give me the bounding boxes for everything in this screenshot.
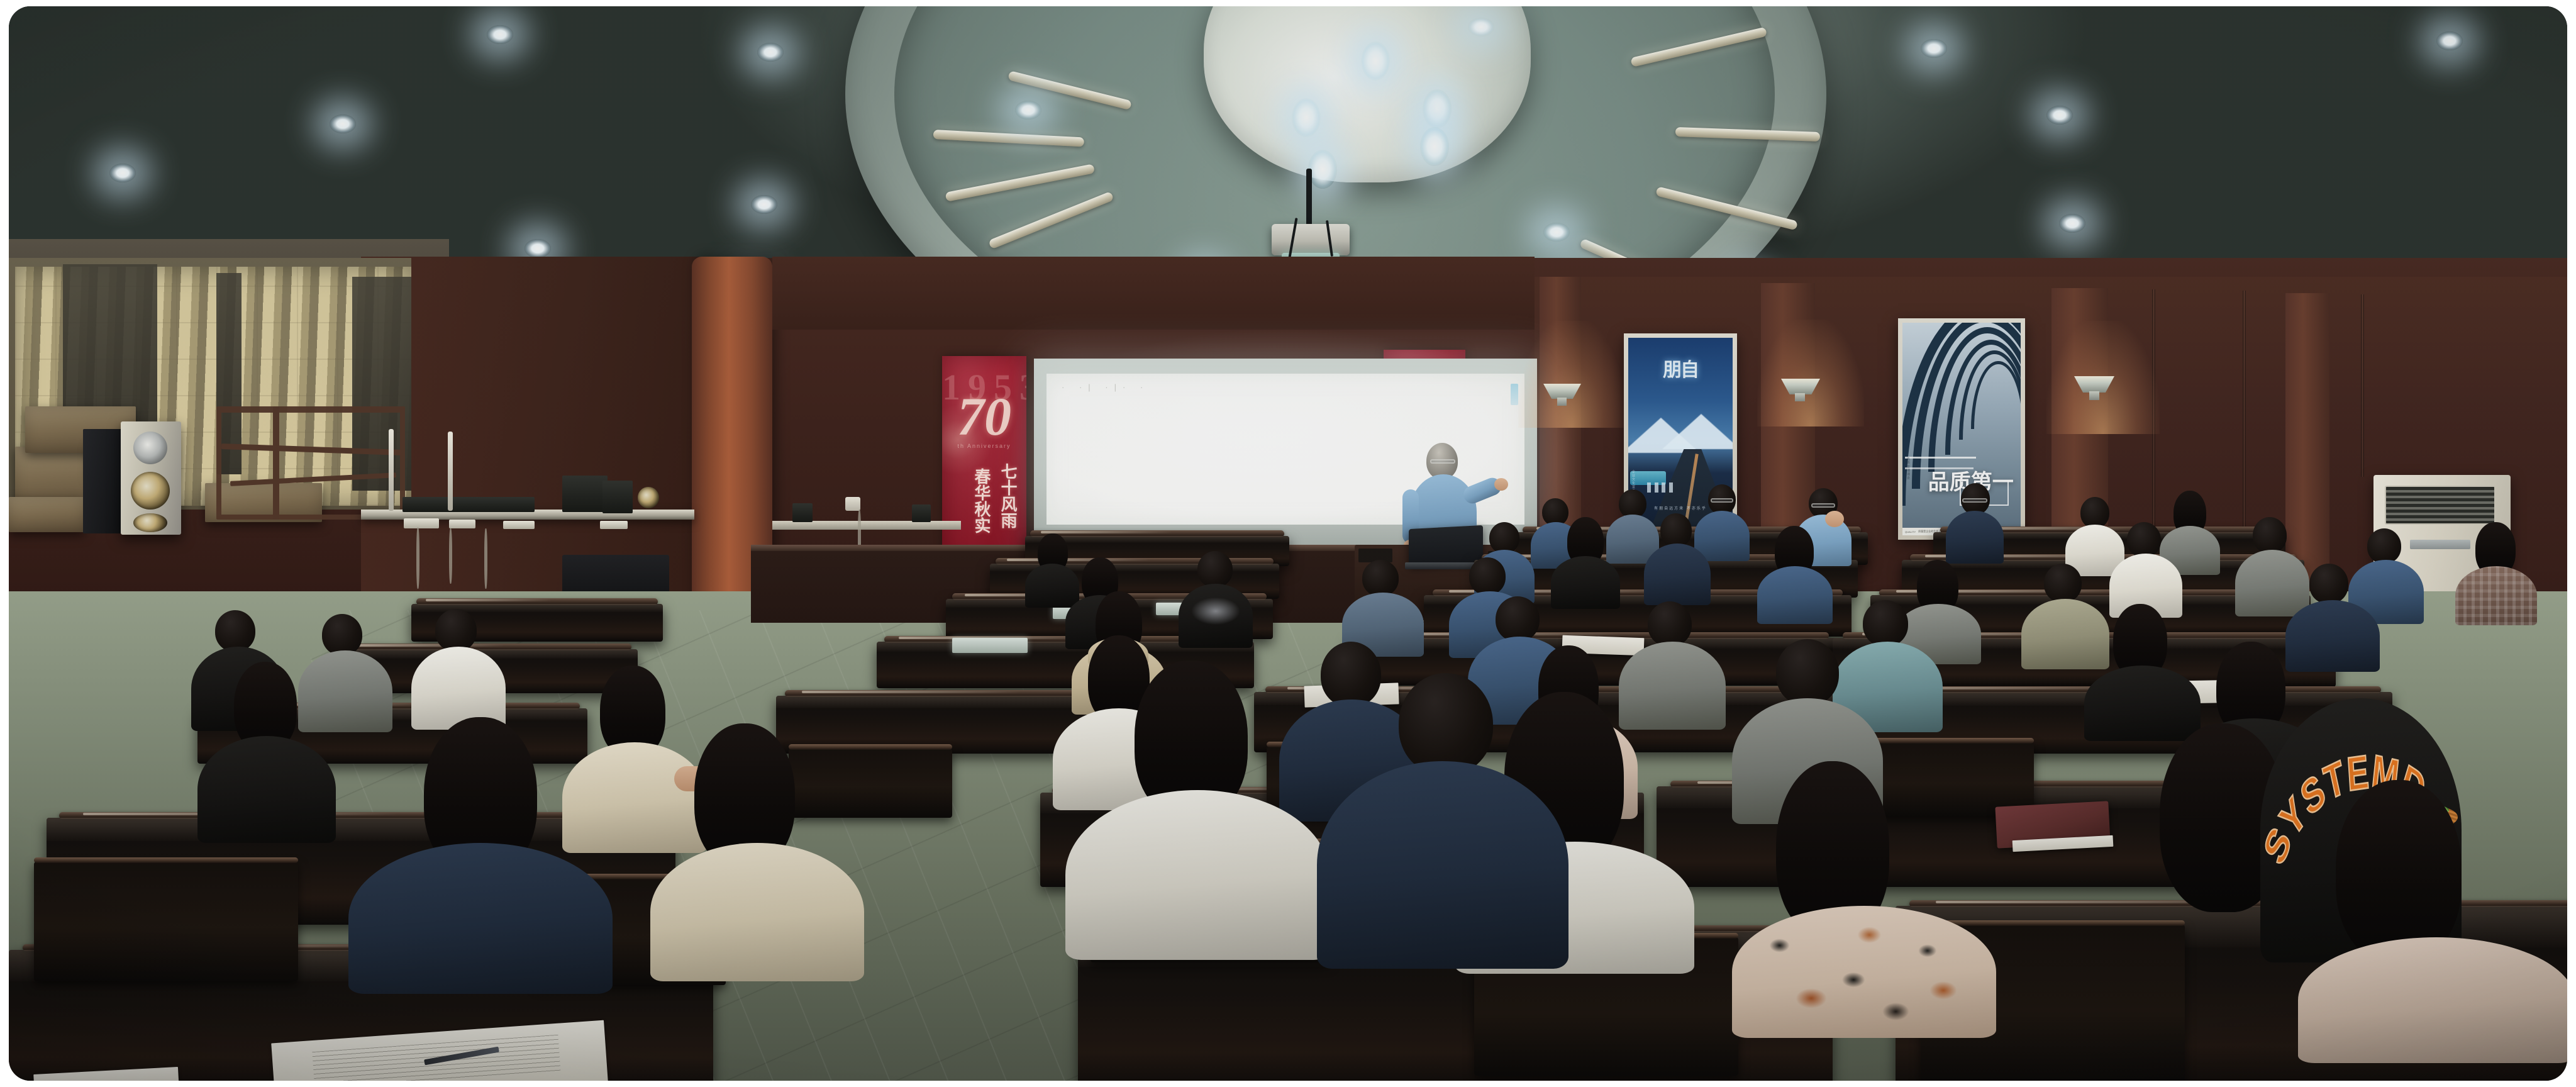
attendee-head bbox=[1489, 522, 1519, 554]
attendee-head bbox=[2080, 497, 2109, 528]
attendee-head bbox=[2309, 564, 2348, 604]
dome-spot-light bbox=[1361, 42, 1390, 81]
ceiling-downlight bbox=[1015, 101, 1041, 120]
ceiling-downlight bbox=[525, 239, 551, 258]
attendee-row5 bbox=[1644, 513, 1711, 604]
cable bbox=[416, 527, 419, 589]
ceiling-downlight bbox=[330, 114, 356, 133]
sconce-glow bbox=[1518, 321, 1625, 428]
attendee-head bbox=[1362, 560, 1399, 596]
power-strip bbox=[503, 521, 535, 529]
cardboard-box bbox=[9, 497, 84, 532]
ledge-device bbox=[912, 504, 931, 522]
ledge-device bbox=[792, 503, 813, 522]
attendee-row5 bbox=[2455, 522, 2537, 623]
attendee-row3 bbox=[411, 609, 506, 728]
attendee-torso bbox=[197, 736, 336, 843]
attendee-long-hair bbox=[2336, 780, 2462, 962]
sconce-glow bbox=[1757, 320, 1864, 426]
ceiling-downlight bbox=[757, 43, 784, 62]
av-equipment-box bbox=[562, 476, 608, 512]
microphone-stand bbox=[389, 429, 394, 511]
speaker-woofer bbox=[131, 472, 170, 510]
dome-spot-light bbox=[1420, 127, 1449, 166]
attendee-head bbox=[2367, 528, 2401, 564]
sconce-stem bbox=[2089, 391, 2099, 400]
attendee-torso bbox=[1065, 790, 1330, 960]
bridge-deck-rail bbox=[1905, 467, 1974, 469]
ceiling-downlight bbox=[2046, 106, 2073, 125]
attendee-row5 bbox=[2109, 522, 2182, 616]
attendee-torso bbox=[2298, 937, 2567, 1063]
seat-back bbox=[34, 862, 298, 981]
desk-monitor-glow bbox=[952, 638, 1028, 653]
poster-two-side-text: 品质管理理念 bbox=[1906, 457, 1911, 480]
attendee-front-right bbox=[2298, 780, 2567, 1057]
attendee-head bbox=[1776, 639, 1839, 706]
ceiling-downlight bbox=[2436, 31, 2463, 50]
attendee-torso bbox=[1179, 584, 1253, 648]
attendee-head bbox=[1648, 601, 1692, 647]
dome-spot-light bbox=[1292, 98, 1321, 137]
attendee-glasses bbox=[1962, 498, 1987, 503]
projector bbox=[1272, 224, 1350, 255]
attendee-front-left-cream bbox=[650, 723, 864, 975]
ceiling-downlight bbox=[109, 164, 136, 182]
av-equipment-box bbox=[402, 497, 535, 512]
attendee-head bbox=[1197, 551, 1233, 588]
wall-power-socket[interactable] bbox=[845, 497, 860, 511]
photo-canvas: 1953 70 th Anniversary 七十风雨 春华秋实 2023 70… bbox=[9, 6, 2567, 1081]
sconce-stem bbox=[1795, 393, 1805, 401]
speaker-tweeter bbox=[133, 432, 167, 464]
seat-arm-rail bbox=[34, 857, 298, 863]
speaker-cabinet-dark bbox=[83, 429, 125, 533]
banner-left-anniversary-sub: th Anniversary bbox=[942, 443, 1026, 449]
poster-two-caption-tag: QUALITY bbox=[1905, 530, 1916, 533]
dome-spot-light bbox=[1308, 150, 1337, 189]
attendee-head bbox=[1469, 557, 1506, 595]
power-strip bbox=[449, 520, 475, 528]
ceiling-downlight bbox=[2059, 214, 2085, 233]
ceiling-downlight bbox=[751, 195, 777, 214]
attendee-head bbox=[2127, 522, 2161, 557]
sconce-stem bbox=[1557, 398, 1567, 406]
attendee-glasses bbox=[1711, 498, 1733, 503]
attendee-torso bbox=[650, 843, 864, 981]
attendee-head bbox=[1496, 596, 1540, 642]
attendee-torso bbox=[1317, 761, 1568, 969]
attendee-row4 bbox=[1342, 560, 1424, 654]
banner-left-column-right: 七十风雨 bbox=[999, 463, 1016, 528]
attendee-front-left-navy bbox=[348, 717, 613, 981]
projector-mount-arm bbox=[1306, 169, 1312, 226]
power-strip bbox=[404, 518, 439, 528]
attendee-torso bbox=[1946, 511, 2004, 564]
attendee-row5 bbox=[1551, 517, 1620, 605]
cable bbox=[449, 528, 452, 584]
ceiling-downlight bbox=[1468, 18, 1494, 36]
attendee-head bbox=[2253, 517, 2287, 554]
speaker-woofer bbox=[133, 513, 167, 532]
dome-spot-light bbox=[1423, 89, 1452, 128]
attendee-head bbox=[215, 610, 255, 652]
guardrail-post bbox=[1662, 482, 1665, 493]
attendee-print-blouse-torso bbox=[1732, 906, 1996, 1038]
wall-panel-seam bbox=[2361, 294, 2364, 477]
frame-crossbar bbox=[273, 406, 279, 520]
poster-one-title: 朋自 bbox=[1663, 362, 1698, 380]
attendee-head bbox=[435, 609, 477, 652]
av-equipment-ledge bbox=[772, 521, 961, 530]
attendee-front-centre-white bbox=[1065, 661, 1330, 956]
attendee-front-centre-navy bbox=[1317, 673, 1568, 962]
guardrail-post bbox=[1669, 482, 1673, 493]
floor-loudspeaker bbox=[121, 421, 181, 535]
attendee-torso bbox=[1757, 566, 1833, 624]
presenter-glasses bbox=[1430, 459, 1455, 464]
banner-left-column-left: 春华秋实 bbox=[972, 468, 990, 533]
stacked-metal-frame bbox=[216, 406, 405, 520]
attendee-row2 bbox=[197, 662, 336, 838]
screen-faint-text: · ·| ·|· · bbox=[1062, 382, 1149, 392]
cable bbox=[484, 528, 487, 589]
attendee-row5 bbox=[1757, 526, 1833, 620]
screen-header-band bbox=[772, 257, 1535, 330]
bridge-deck-rail bbox=[1905, 457, 1976, 459]
attendee-head bbox=[2044, 564, 2082, 603]
attendee-row6 bbox=[1946, 483, 2004, 562]
av-equipment-box bbox=[602, 481, 633, 513]
mountain-shape bbox=[1662, 414, 1733, 449]
attendee-hand bbox=[1825, 511, 1844, 527]
banner-left-anniversary: 70 bbox=[942, 385, 1026, 448]
ceiling-downlight bbox=[487, 25, 513, 44]
ceiling-downlight bbox=[1543, 223, 1570, 242]
attendee-glasses bbox=[1811, 503, 1835, 508]
ceiling-downlight bbox=[1921, 39, 1947, 58]
presenter-hand bbox=[1494, 478, 1508, 491]
power-strip bbox=[600, 521, 628, 529]
attendee-head bbox=[1660, 513, 1692, 547]
monitor-speaker bbox=[638, 487, 659, 508]
attendee-torso bbox=[348, 843, 613, 994]
tshirt-print-graphic bbox=[1192, 598, 1240, 625]
attendee-head bbox=[322, 614, 362, 655]
attendee-print-blouse bbox=[1732, 761, 1996, 1025]
attendee-torso bbox=[1644, 543, 1711, 605]
attendee-torso bbox=[2455, 566, 2537, 625]
attendee-head bbox=[1399, 673, 1493, 775]
air-conditioner-grille bbox=[2385, 486, 2495, 525]
screen-corner-mark bbox=[1511, 384, 1518, 405]
attendee-row4 bbox=[1179, 551, 1253, 645]
microphone-stand bbox=[448, 432, 453, 511]
